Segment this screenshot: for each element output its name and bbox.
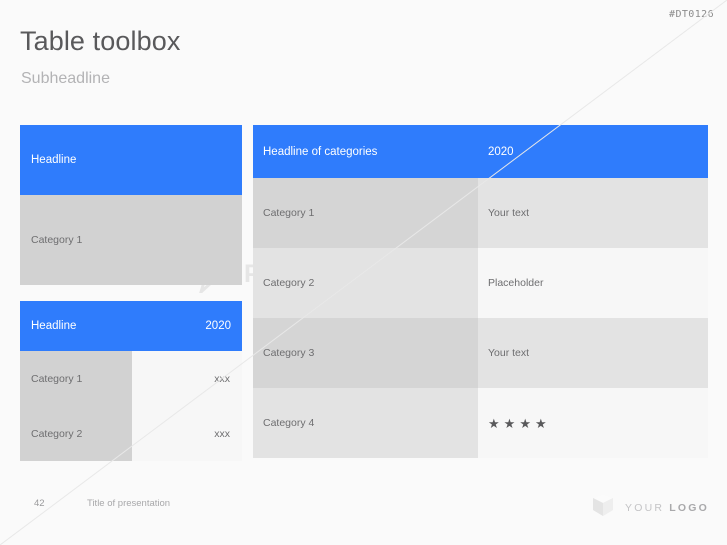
left-table-2-header: Headline 2020 <box>20 301 242 351</box>
table-row: Category 1 xxx <box>20 351 242 406</box>
left-table-2-header-value: 2020 <box>132 320 242 332</box>
star-icon: ★ <box>504 417 516 430</box>
right-table-row-0-value: Your text <box>478 178 708 248</box>
slide-canvas: PRESENTATIONLOAD #DT0126 Table toolbox S… <box>0 0 727 545</box>
logo-word-1: YOUR <box>625 502 664 514</box>
left-table-2-header-label: Headline <box>20 320 132 332</box>
right-table-row-0-label: Category 1 <box>253 178 478 248</box>
document-code: #DT0126 <box>669 9 714 20</box>
table-row: Category 3 Your text <box>253 318 708 388</box>
right-table-header: Headline of categories 2020 <box>253 125 708 178</box>
page-subtitle: Subheadline <box>21 70 110 88</box>
left-table-2-row-0-label: Category 1 <box>20 351 132 406</box>
footer-page-number: 42 <box>34 498 45 509</box>
right-table-header-value: 2020 <box>478 146 708 158</box>
table-row: Category 1 Your text <box>253 178 708 248</box>
left-table-1-header-label: Headline <box>31 154 76 166</box>
left-table-2-row-1-value: xxx <box>132 406 242 461</box>
star-icon: ★ <box>519 417 531 430</box>
left-table-1-row-0-label: Category 1 <box>31 234 82 246</box>
logo-word-2: LOGO <box>669 502 709 514</box>
right-table-header-label: Headline of categories <box>253 146 478 158</box>
table-row: Category 4 ★★★★ <box>253 388 708 458</box>
right-table-row-2-label: Category 3 <box>253 318 478 388</box>
left-table-1: Headline Category 1 <box>20 125 242 285</box>
right-table-row-2-value: Your text <box>478 318 708 388</box>
table-row: Category 1 <box>20 195 242 285</box>
left-table-2: Headline 2020 Category 1 xxx Category 2 … <box>20 301 242 461</box>
left-table-2-row-1-label: Category 2 <box>20 406 132 461</box>
footer-logo: YOUR LOGO <box>592 493 709 522</box>
cube-icon <box>592 493 614 522</box>
star-rating: ★★★★ <box>488 417 547 430</box>
right-table-row-3-label: Category 4 <box>253 388 478 458</box>
star-icon: ★ <box>535 417 547 430</box>
star-icon: ★ <box>488 417 500 430</box>
logo-text: YOUR LOGO <box>625 502 709 514</box>
right-table: Headline of categories 2020 Category 1 Y… <box>253 125 708 458</box>
left-table-1-header: Headline <box>20 125 242 195</box>
table-row: Category 2 Placeholder <box>253 248 708 318</box>
table-row: Category 2 xxx <box>20 406 242 461</box>
right-table-row-3-value: ★★★★ <box>478 388 708 458</box>
right-table-row-1-value: Placeholder <box>478 248 708 318</box>
right-table-row-1-label: Category 2 <box>253 248 478 318</box>
page-title: Table toolbox <box>20 26 180 57</box>
left-table-2-row-0-value: xxx <box>132 351 242 406</box>
footer-presentation-title: Title of presentation <box>87 498 170 509</box>
